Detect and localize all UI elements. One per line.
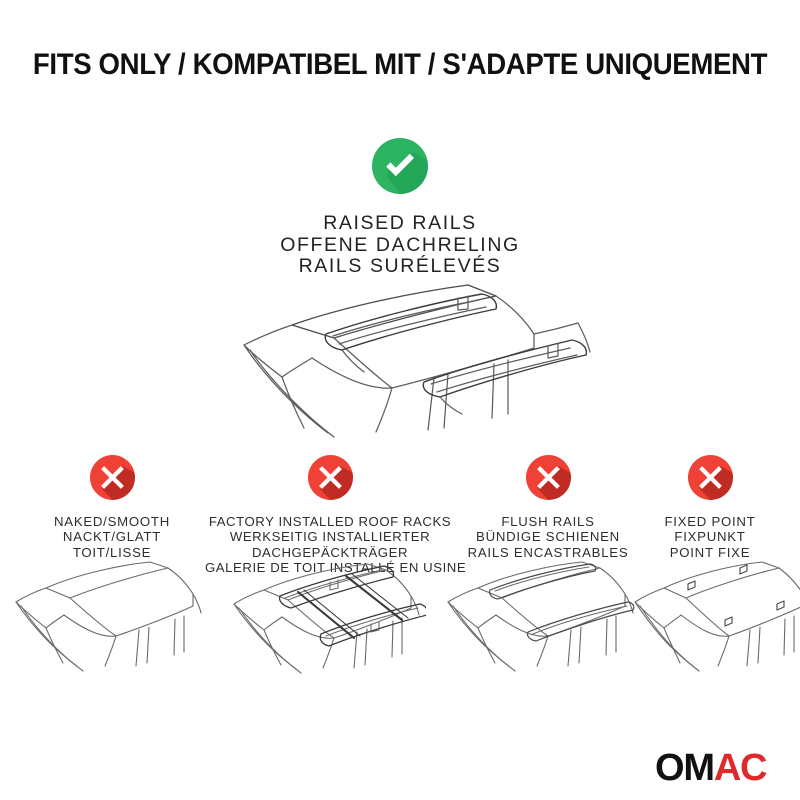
label-de: OFFENE DACHRELING [200,235,600,257]
omac-logo: OMAC [655,748,785,788]
incompatible-option-flush-rails: FLUSH RAILS BÜNDIGE SCHIENEN RAILS ENCAS… [450,455,646,560]
incompatible-option-naked-smooth: NAKED/SMOOTH NACKT/GLATT TOIT/LISSE [12,455,212,560]
incompatible-option-labels: FIXED POINT FIXPUNKT POINT FIXE [640,514,780,560]
incompatible-option-labels: NAKED/SMOOTH NACKT/GLATT TOIT/LISSE [12,514,212,560]
label-en: NAKED/SMOOTH [12,514,212,529]
omac-logo-part-om: OM [655,747,714,789]
check-circle-icon [200,138,600,199]
label-en: FACTORY INSTALLED ROOF RACKS [205,514,455,529]
compatibility-infographic: FITS ONLY / KOMPATIBEL MIT / S'ADAPTE UN… [0,0,800,800]
x-circle-icon [640,455,780,505]
car-roof-raised-rails-illustration [196,278,606,453]
car-roof-naked-smooth-illustration [8,560,208,680]
label-de: NACKT/GLATT [12,529,212,544]
page-title: FITS ONLY / KOMPATIBEL MIT / S'ADAPTE UN… [0,48,800,82]
car-roof-factory-roof-rack-illustration [226,550,426,680]
label-fr: RAILS SURÉLEVÉS [200,256,600,278]
incompatible-option-fixed-point: FIXED POINT FIXPUNKT POINT FIXE [640,455,780,560]
label-de-1: WERKSEITIG INSTALLIERTER [205,529,455,544]
car-roof-flush-rails-illustration [440,558,640,680]
x-circle-icon [450,455,646,505]
omac-logo-text: OMAC [655,747,766,789]
incompatible-option-labels: FLUSH RAILS BÜNDIGE SCHIENEN RAILS ENCAS… [450,514,646,560]
compatible-option-raised-rails: RAISED RAILS OFFENE DACHRELING RAILS SUR… [200,138,600,278]
omac-logo-part-ac: AC [714,747,767,789]
page-title-text: FITS ONLY / KOMPATIBEL MIT / S'ADAPTE UN… [33,48,767,82]
label-en: FLUSH RAILS [450,514,646,529]
x-circle-icon [12,455,212,505]
label-en: RAISED RAILS [200,213,600,235]
label-de: FIXPUNKT [640,529,780,544]
label-en: FIXED POINT [640,514,780,529]
car-roof-fixed-point-illustration [628,556,800,680]
label-fr: TOIT/LISSE [12,545,212,560]
label-de: BÜNDIGE SCHIENEN [450,529,646,544]
x-circle-icon [205,455,455,505]
compatible-option-labels: RAISED RAILS OFFENE DACHRELING RAILS SUR… [200,213,600,278]
